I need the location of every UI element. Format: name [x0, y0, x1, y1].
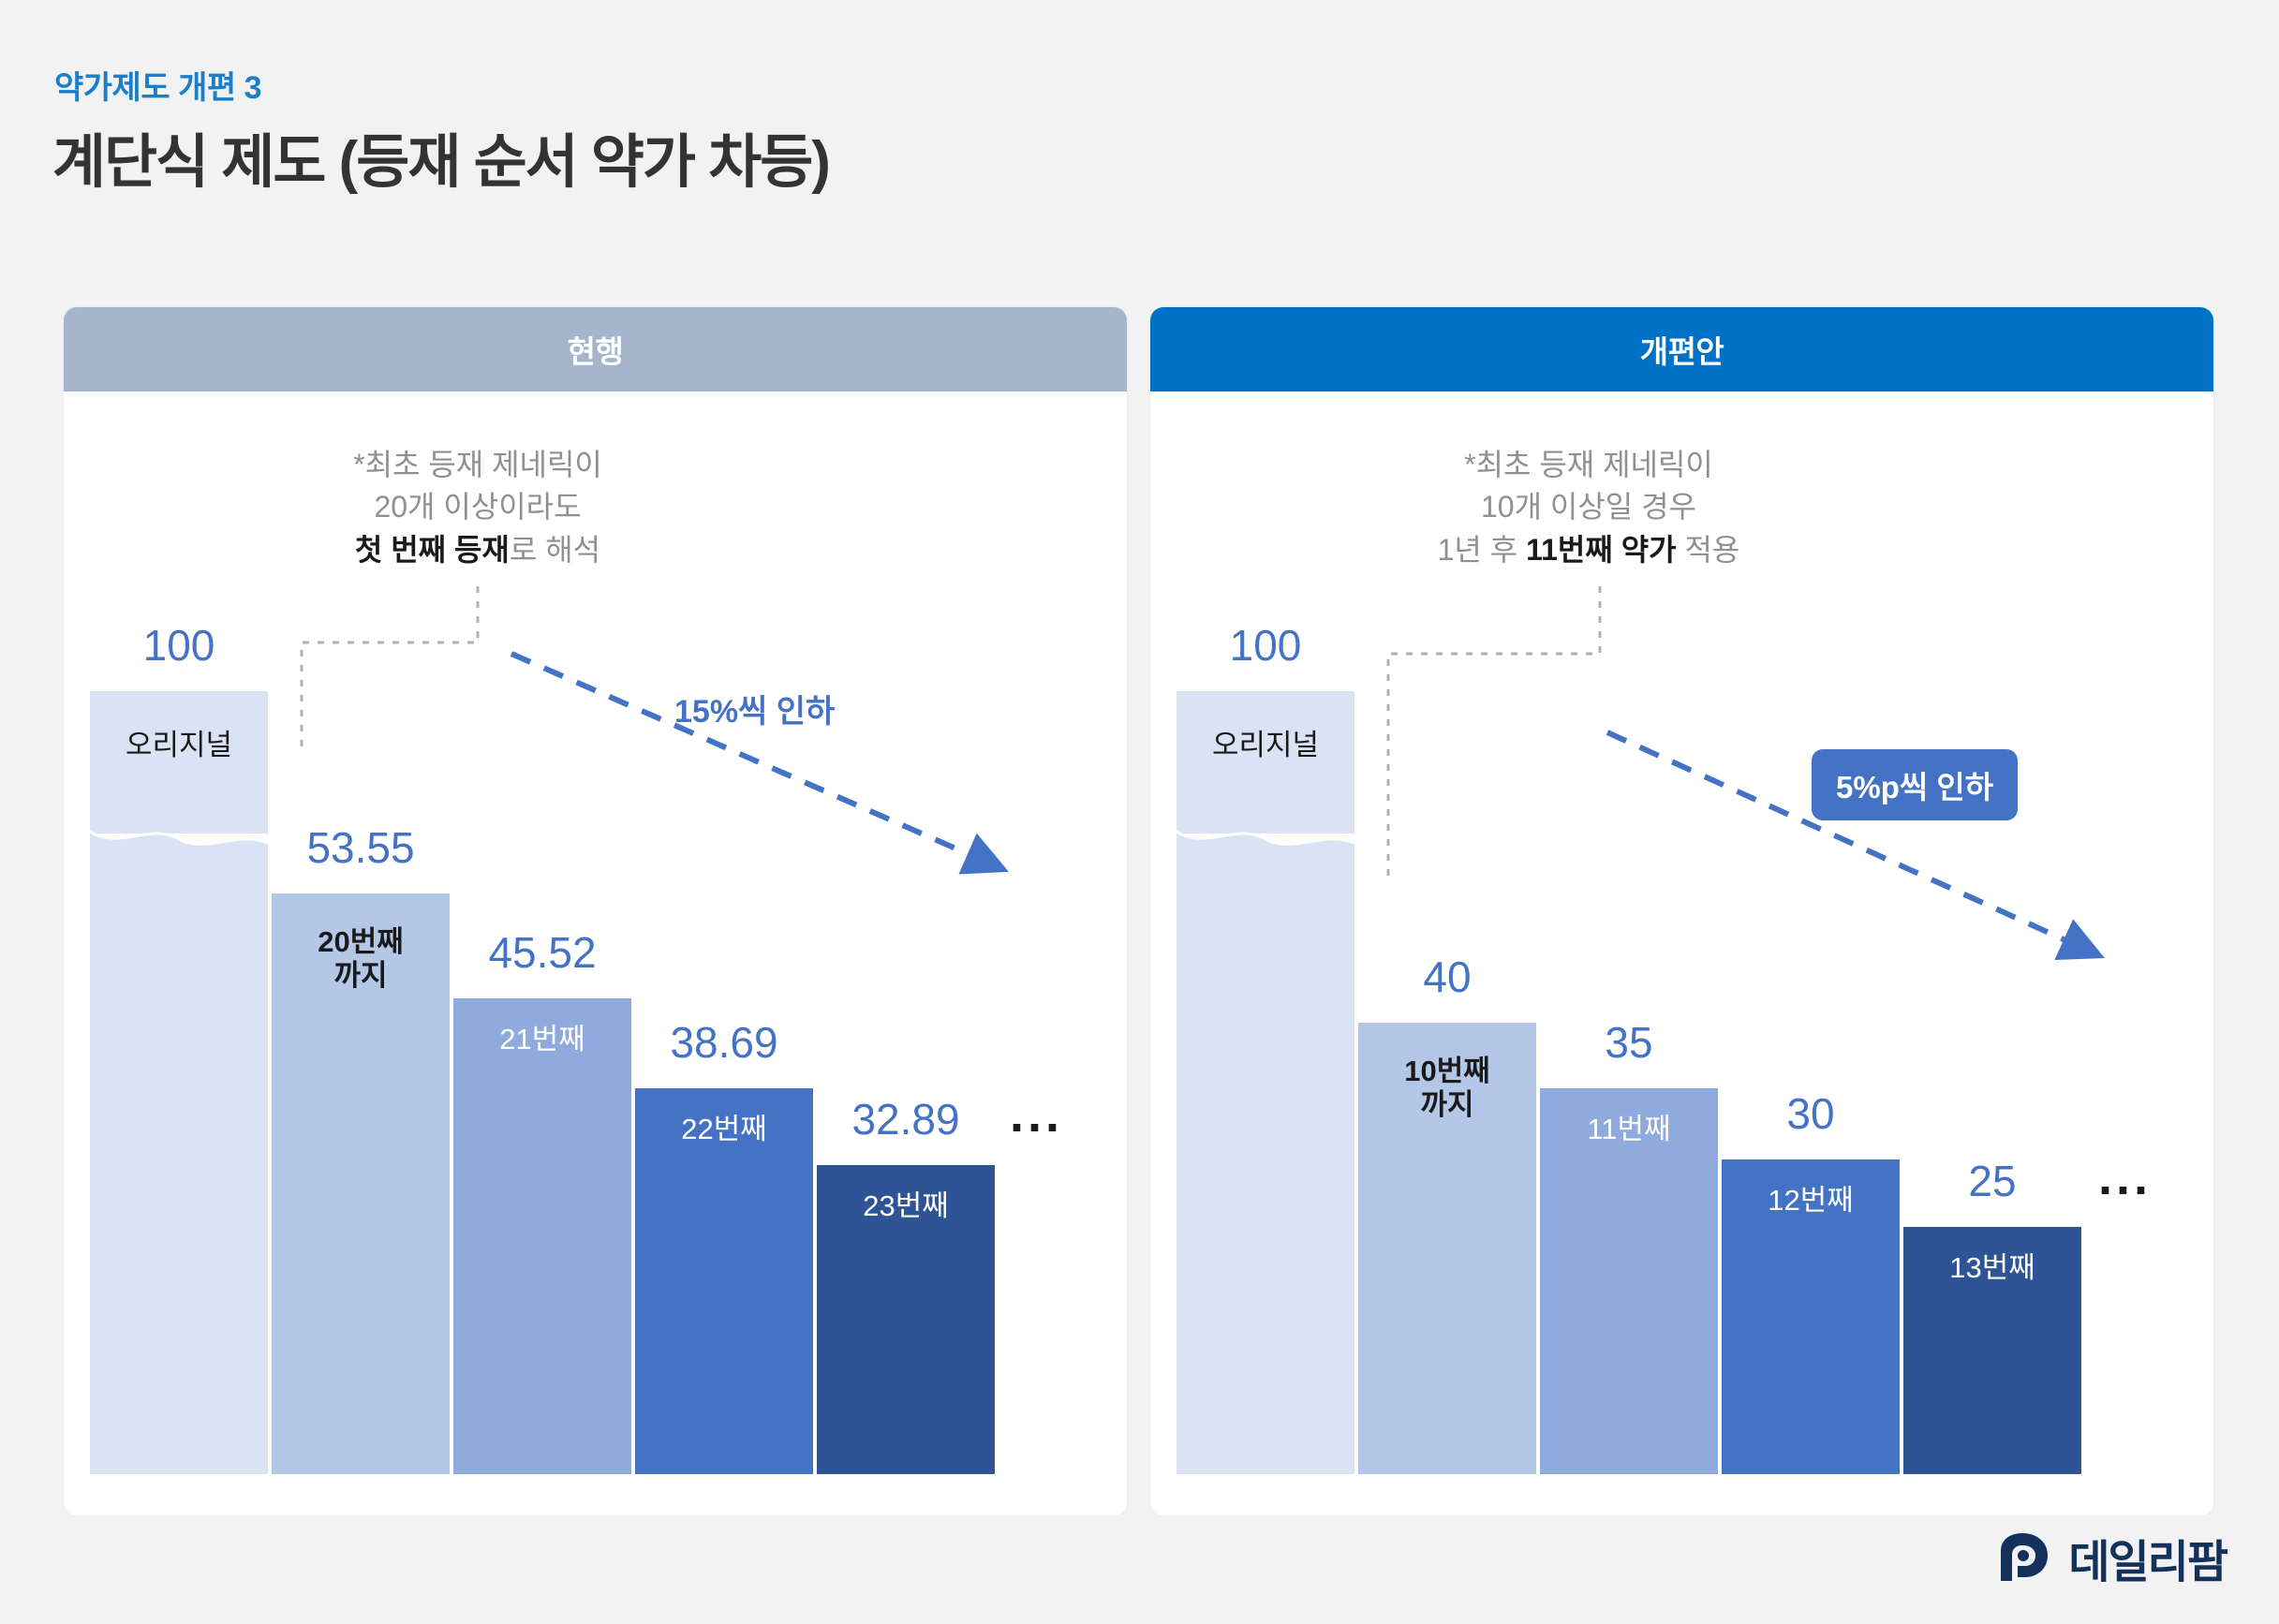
bar-current-0: 100 오리지널	[90, 691, 268, 1474]
bar-reform-0-rect-top	[1176, 691, 1354, 834]
note-current-line2: 20개 이상이라도	[374, 490, 581, 524]
panel-reform-body: 100 오리지널 40 10번째까지 35 11	[1150, 391, 2213, 1515]
decline-label-current: 15%씩 인하	[674, 686, 835, 731]
bar-current-2-label: 21번째	[453, 1023, 631, 1056]
bar-current-0-rect-bottom	[90, 852, 268, 1474]
bar-current-2: 45.52 21번째	[453, 998, 631, 1474]
note-reform: *최초 등재 제네릭이 10개 이상일 경우 1년 후 11번째 약가 적용	[1354, 444, 1823, 571]
bar-reform-4: 25 13번째	[1903, 1227, 2081, 1474]
panel-current: 현행 100 오리지널 53.55 20번째까지	[64, 307, 1127, 1515]
leader-line-current	[281, 586, 525, 755]
dailypharm-logo-text: 데일리팜	[2068, 1525, 2227, 1590]
bar-current-0-label: 오리지널	[90, 729, 268, 762]
bar-reform-4-value: 25	[1903, 1156, 2081, 1206]
bar-reform-3-label: 12번째	[1722, 1184, 1900, 1218]
decline-badge-reform: 5%p씩 인하	[1812, 749, 2018, 820]
bar-current-3-value: 38.69	[635, 1017, 813, 1068]
panel-reform-header: 개편안	[1150, 307, 2213, 391]
axis-break-wave-icon	[90, 830, 268, 854]
bar-current-1-value: 53.55	[272, 822, 450, 873]
bar-reform-2: 35 11번째	[1540, 1088, 1718, 1474]
bar-current-4: 32.89 23번째	[817, 1165, 995, 1474]
ellipsis-reform: ...	[2098, 1152, 2152, 1203]
note-reform-line3-head: 1년 후	[1438, 533, 1526, 567]
dailypharm-logo: 데일리팜	[1993, 1525, 2227, 1590]
bar-reform-4-label: 13번째	[1903, 1251, 2081, 1285]
bar-current-3: 38.69 22번째	[635, 1088, 813, 1474]
bar-current-2-value: 45.52	[453, 927, 631, 978]
chart-current: 100 오리지널 53.55 20번째까지 45.52	[64, 391, 1127, 1515]
chart-reform: 100 오리지널 40 10번째까지 35 11	[1150, 391, 2213, 1515]
bar-current-1-label: 20번째까지	[272, 925, 450, 993]
bar-current-0-rect-top	[90, 691, 268, 834]
panel-reform: 개편안 100 오리지널 40 10번째까지	[1150, 307, 2213, 1515]
bar-reform-1-label: 10번째까지	[1358, 1055, 1536, 1122]
note-reform-line3-bold: 11번째 약가	[1526, 533, 1676, 567]
note-reform-line2: 10개 이상일 경우	[1481, 490, 1696, 524]
infographic-page: 약가제도 개편 3 계단식 제도 (등재 순서 약가 차등) 현행 100 오리…	[0, 0, 2279, 1624]
note-current: *최초 등재 제네릭이 20개 이상이라도 첫 번째 등재로 해석	[281, 444, 674, 571]
decline-arrow-current	[504, 646, 1029, 890]
ellipsis-current: ...	[1010, 1089, 1063, 1140]
bar-reform-3-value: 30	[1722, 1088, 1900, 1139]
panel-current-body: 100 오리지널 53.55 20번째까지 45.52	[64, 391, 1127, 1515]
note-reform-line3-tail: 적용	[1677, 533, 1740, 567]
eyebrow-label: 약가제도 개편 3	[54, 62, 261, 108]
bar-current-4-value: 32.89	[817, 1094, 995, 1144]
bar-reform-0-label: 오리지널	[1176, 729, 1354, 762]
note-current-line3-bold: 첫 번째 등재	[355, 533, 510, 567]
bar-reform-0-value: 100	[1176, 620, 1354, 671]
bar-reform-0-rect-bottom	[1176, 852, 1354, 1474]
bar-reform-2-label: 11번째	[1540, 1113, 1718, 1146]
note-current-line1: *최초 등재 제네릭이	[353, 448, 602, 481]
page-title: 계단식 제도 (등재 순서 약가 차등)	[52, 114, 829, 199]
note-current-line3-tail: 로 해석	[510, 533, 600, 567]
panel-current-header: 현행	[64, 307, 1127, 391]
bar-reform-1: 40 10번째까지	[1358, 1023, 1536, 1474]
bar-reform-3: 30 12번째	[1722, 1159, 1900, 1474]
bar-reform-1-value: 40	[1358, 952, 1536, 1002]
bar-reform-0: 100 오리지널	[1176, 691, 1354, 1474]
dailypharm-p-mark-icon	[1993, 1530, 2055, 1585]
bar-current-3-label: 22번째	[635, 1113, 813, 1146]
bar-reform-2-value: 35	[1540, 1017, 1718, 1068]
bar-current-1: 53.55 20번째까지	[272, 893, 450, 1474]
axis-break-wave-icon	[1176, 830, 1354, 854]
bar-current-4-label: 23번째	[817, 1189, 995, 1223]
note-reform-line1: *최초 등재 제네릭이	[1464, 448, 1713, 481]
bar-current-0-value: 100	[90, 620, 268, 671]
